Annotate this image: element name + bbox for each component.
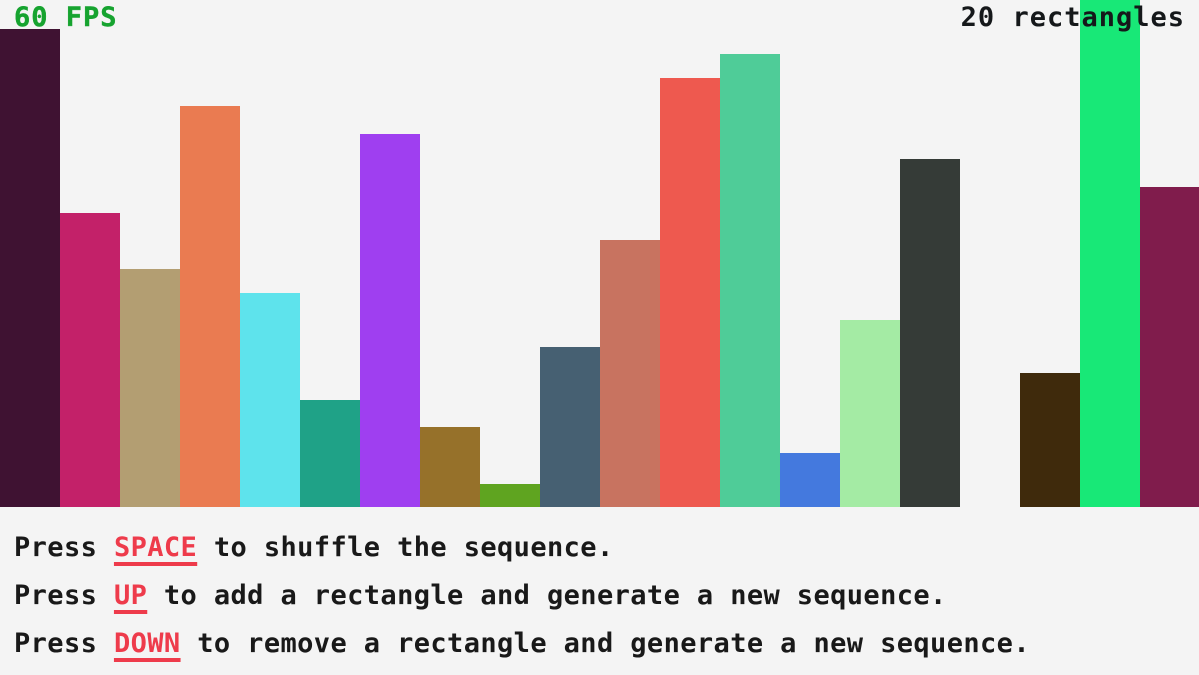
instruction-suffix: to shuffle the sequence. (197, 532, 613, 563)
bar-10 (540, 347, 600, 507)
bar-11 (600, 240, 660, 507)
fps-counter: 60 FPS (14, 4, 118, 31)
instruction-line-remove: Press DOWN to remove a rectangle and gen… (14, 620, 1199, 668)
bar-2 (60, 213, 120, 507)
instruction-prefix: Press (14, 532, 114, 563)
bar-8 (420, 427, 480, 507)
bar-14 (780, 453, 840, 507)
instruction-line-add: Press UP to add a rectangle and generate… (14, 572, 1199, 620)
bar-9 (480, 484, 540, 507)
bar-20 (1140, 187, 1199, 507)
key-space[interactable]: SPACE (114, 532, 197, 563)
bar-4 (180, 106, 240, 507)
bar-1 (0, 29, 60, 507)
instruction-prefix: Press (14, 628, 114, 659)
instruction-line-shuffle: Press SPACE to shuffle the sequence. (14, 524, 1199, 572)
bar-18 (1020, 373, 1080, 507)
instruction-suffix: to add a rectangle and generate a new se… (147, 580, 946, 611)
bar-13 (720, 54, 780, 507)
bar-7 (360, 134, 420, 507)
bar-15 (840, 320, 900, 507)
key-up[interactable]: UP (114, 580, 147, 611)
bar-3 (120, 269, 180, 507)
bar-chart-canvas (0, 0, 1199, 507)
bar-19 (1080, 0, 1140, 507)
bar-16 (900, 159, 960, 507)
bar-5 (240, 293, 300, 507)
instruction-prefix: Press (14, 580, 114, 611)
instruction-suffix: to remove a rectangle and generate a new… (181, 628, 1030, 659)
bar-12 (660, 78, 720, 507)
key-down[interactable]: DOWN (114, 628, 181, 659)
rectangle-count-label: 20 rectangles (961, 4, 1185, 31)
instructions-panel: Press SPACE to shuffle the sequence. Pre… (0, 507, 1199, 675)
bar-6 (300, 400, 360, 507)
